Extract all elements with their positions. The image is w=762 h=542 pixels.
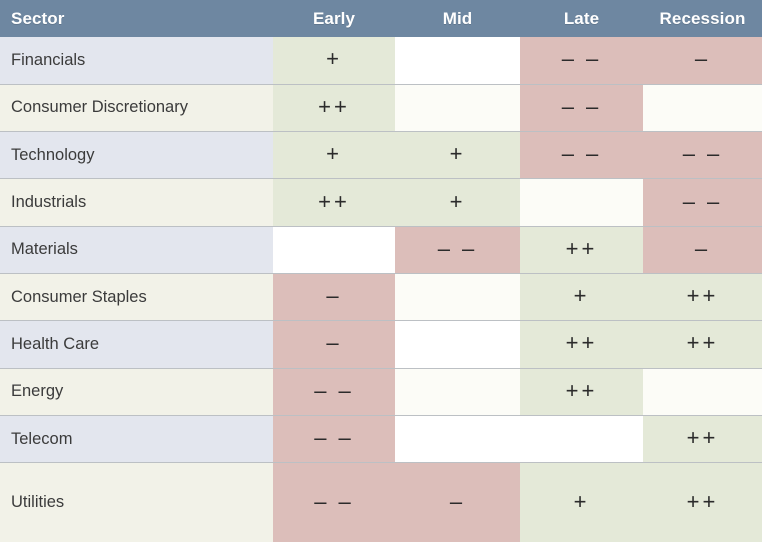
rating-cell-recession: ++ xyxy=(643,273,762,320)
column-header-sector[interactable]: Sector xyxy=(0,0,273,37)
table-row: Financials+– –– xyxy=(0,37,762,84)
rating-cell-mid xyxy=(395,368,520,415)
rating-mark: ++ xyxy=(566,380,598,402)
rating-mark: ++ xyxy=(566,332,598,354)
rating-mark: ++ xyxy=(566,238,598,260)
rating-mark: – xyxy=(450,491,465,513)
rating-mark: – – xyxy=(562,143,602,165)
rating-cell-recession: ++ xyxy=(643,321,762,368)
table-row: Technology++– –– – xyxy=(0,132,762,179)
sector-label: Financials xyxy=(0,37,273,84)
rating-mark: + xyxy=(450,143,466,165)
rating-mark: – – xyxy=(438,238,478,260)
rating-cell-early: + xyxy=(273,37,395,84)
column-header-mid[interactable]: Mid xyxy=(395,0,520,37)
column-header-late[interactable]: Late xyxy=(520,0,643,37)
rating-cell-mid: + xyxy=(395,179,520,226)
sector-label: Utilities xyxy=(0,463,273,542)
rating-cell-recession: – – xyxy=(643,179,762,226)
rating-mark: – – xyxy=(314,491,354,513)
rating-cell-early: ++ xyxy=(273,84,395,131)
sector-label: Materials xyxy=(0,226,273,273)
table-body: Financials+– ––Consumer Discretionary++–… xyxy=(0,37,762,542)
rating-mark: – xyxy=(326,332,341,354)
rating-cell-mid xyxy=(395,273,520,320)
header-row: Sector Early Mid Late Recession xyxy=(0,0,762,37)
rating-cell-early: ++ xyxy=(273,179,395,226)
rating-mark: – – xyxy=(683,143,723,165)
table-header: Sector Early Mid Late Recession xyxy=(0,0,762,37)
rating-cell-late: + xyxy=(520,463,643,542)
rating-cell-late: – – xyxy=(520,37,643,84)
rating-cell-mid xyxy=(395,84,520,131)
rating-cell-recession: – – xyxy=(643,132,762,179)
rating-mark: – xyxy=(326,285,341,307)
rating-cell-late xyxy=(520,179,643,226)
rating-mark: ++ xyxy=(687,332,719,354)
table-row: Telecom– –++ xyxy=(0,415,762,462)
rating-cell-mid: + xyxy=(395,132,520,179)
rating-mark: – – xyxy=(562,48,602,70)
sector-label: Health Care xyxy=(0,321,273,368)
rating-mark: + xyxy=(326,143,342,165)
table-row: Utilities– ––+++ xyxy=(0,463,762,542)
rating-cell-early: + xyxy=(273,132,395,179)
rating-cell-recession: – xyxy=(643,226,762,273)
table-row: Consumer Staples–+++ xyxy=(0,273,762,320)
rating-mark: – – xyxy=(683,191,723,213)
sector-label: Consumer Discretionary xyxy=(0,84,273,131)
rating-cell-early xyxy=(273,226,395,273)
column-header-recession[interactable]: Recession xyxy=(643,0,762,37)
table-row: Energy– –++ xyxy=(0,368,762,415)
table-row: Health Care–++++ xyxy=(0,321,762,368)
rating-cell-mid xyxy=(395,37,520,84)
rating-cell-recession: – xyxy=(643,37,762,84)
rating-mark: ++ xyxy=(318,191,350,213)
rating-mark: + xyxy=(574,285,590,307)
rating-cell-early: – xyxy=(273,321,395,368)
rating-mark: – – xyxy=(314,427,354,449)
rating-cell-late: + xyxy=(520,273,643,320)
rating-cell-mid xyxy=(395,415,520,462)
table-row: Industrials+++– – xyxy=(0,179,762,226)
rating-cell-recession: ++ xyxy=(643,463,762,542)
rating-cell-late xyxy=(520,415,643,462)
rating-cell-early: – – xyxy=(273,463,395,542)
rating-cell-late: – – xyxy=(520,84,643,131)
rating-mark: ++ xyxy=(687,491,719,513)
sector-label: Consumer Staples xyxy=(0,273,273,320)
rating-mark: + xyxy=(574,491,590,513)
table-row: Materials– –++– xyxy=(0,226,762,273)
rating-cell-early: – xyxy=(273,273,395,320)
rating-mark: + xyxy=(326,48,342,70)
rating-cell-mid: – – xyxy=(395,226,520,273)
rating-cell-recession: ++ xyxy=(643,415,762,462)
sector-label: Telecom xyxy=(0,415,273,462)
rating-mark: – – xyxy=(562,96,602,118)
rating-cell-late: – – xyxy=(520,132,643,179)
rating-mark: ++ xyxy=(687,427,719,449)
rating-cell-late: ++ xyxy=(520,368,643,415)
rating-mark: + xyxy=(450,191,466,213)
rating-mark: – xyxy=(695,48,710,70)
rating-mark: – xyxy=(695,238,710,260)
column-header-early[interactable]: Early xyxy=(273,0,395,37)
rating-cell-mid xyxy=(395,321,520,368)
sector-label: Technology xyxy=(0,132,273,179)
rating-cell-late: ++ xyxy=(520,226,643,273)
sector-label: Industrials xyxy=(0,179,273,226)
sector-cycle-table: Sector Early Mid Late Recession Financia… xyxy=(0,0,762,542)
rating-cell-recession xyxy=(643,368,762,415)
rating-cell-early: – – xyxy=(273,368,395,415)
sector-label: Energy xyxy=(0,368,273,415)
rating-cell-recession xyxy=(643,84,762,131)
rating-cell-early: – – xyxy=(273,415,395,462)
rating-cell-mid: – xyxy=(395,463,520,542)
rating-cell-late: ++ xyxy=(520,321,643,368)
rating-mark: ++ xyxy=(687,285,719,307)
rating-mark: – – xyxy=(314,380,354,402)
rating-mark: ++ xyxy=(318,96,350,118)
table-row: Consumer Discretionary++– – xyxy=(0,84,762,131)
